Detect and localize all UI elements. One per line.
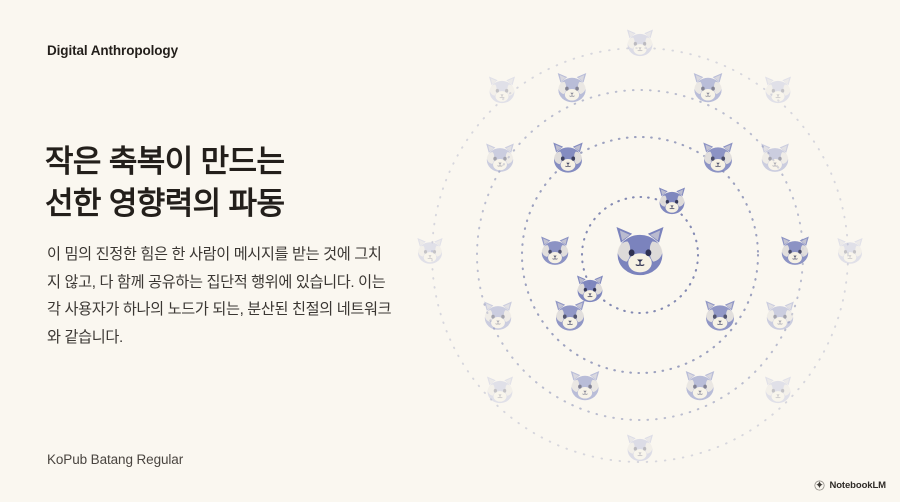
network-node xyxy=(555,301,584,331)
radial-network-diagram xyxy=(400,0,900,502)
network-node xyxy=(571,371,600,400)
notebooklm-brand: NotebookLM xyxy=(814,480,886,491)
network-node xyxy=(627,435,653,462)
network-node xyxy=(627,30,653,57)
slide-canvas: Digital Anthropology 작은 축복이 만드는 선한 영향력의 … xyxy=(0,0,900,502)
network-node xyxy=(765,377,791,404)
network-node xyxy=(761,144,789,172)
network-node xyxy=(837,238,862,264)
network-node xyxy=(686,371,715,400)
network-node xyxy=(766,302,794,330)
network-node xyxy=(577,276,603,303)
body-paragraph: 이 밈의 진정한 힘은 한 사람이 메시지를 받는 것에 그치지 않고, 다 함… xyxy=(47,241,392,352)
notebooklm-wordmark: NotebookLM xyxy=(829,480,886,491)
eyebrow-label: Digital Anthropology xyxy=(47,43,178,58)
notebooklm-spark-icon xyxy=(814,480,825,491)
network-node xyxy=(417,238,442,264)
center-node xyxy=(616,227,663,275)
network-node xyxy=(486,144,514,172)
network-node xyxy=(558,73,587,102)
network-node xyxy=(705,301,734,331)
network-node xyxy=(541,237,569,265)
network-node xyxy=(659,188,685,215)
network-node xyxy=(484,302,512,330)
font-credit-label: KoPub Batang Regular xyxy=(47,452,183,467)
network-node xyxy=(703,143,732,173)
network-node xyxy=(781,237,809,265)
network-node xyxy=(489,77,515,104)
network-node xyxy=(553,143,582,173)
page-title: 작은 축복이 만드는 선한 영향력의 파동 xyxy=(45,141,284,225)
network-node xyxy=(694,73,723,102)
network-node xyxy=(765,77,791,104)
text-column: Digital Anthropology 작은 축복이 만드는 선한 영향력의 … xyxy=(47,0,417,502)
network-node xyxy=(487,377,513,404)
